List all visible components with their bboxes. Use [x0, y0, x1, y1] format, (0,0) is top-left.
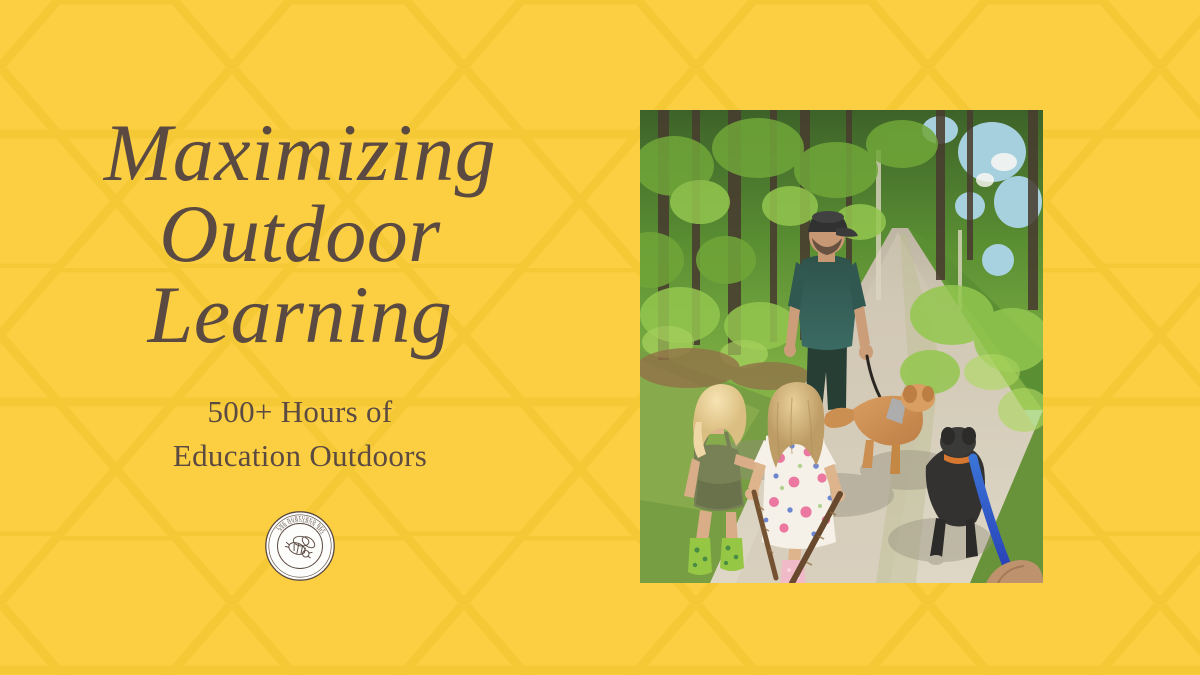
- hero-photo: [640, 110, 1043, 583]
- slide-canvas: Maximizing Outdoor Learning 500+ Hours o…: [0, 0, 1200, 675]
- bee-seal-icon: THE NURTURED BEE THE NURTURED BEE: [264, 510, 336, 582]
- headline-line-3: Learning: [40, 274, 560, 355]
- headline-line-1: Maximizing: [40, 112, 560, 193]
- brand-logo: THE NURTURED BEE THE NURTURED BEE: [264, 510, 336, 582]
- text-column: Maximizing Outdoor Learning 500+ Hours o…: [0, 0, 600, 675]
- subtitle-line-1: 500+ Hours of: [173, 390, 427, 434]
- page-title: Maximizing Outdoor Learning: [40, 112, 560, 356]
- headline-line-2: Outdoor: [40, 193, 560, 274]
- subtitle: 500+ Hours of Education Outdoors: [173, 390, 427, 478]
- subtitle-line-2: Education Outdoors: [173, 434, 427, 478]
- trail-walk-photo-illustration: [640, 110, 1043, 583]
